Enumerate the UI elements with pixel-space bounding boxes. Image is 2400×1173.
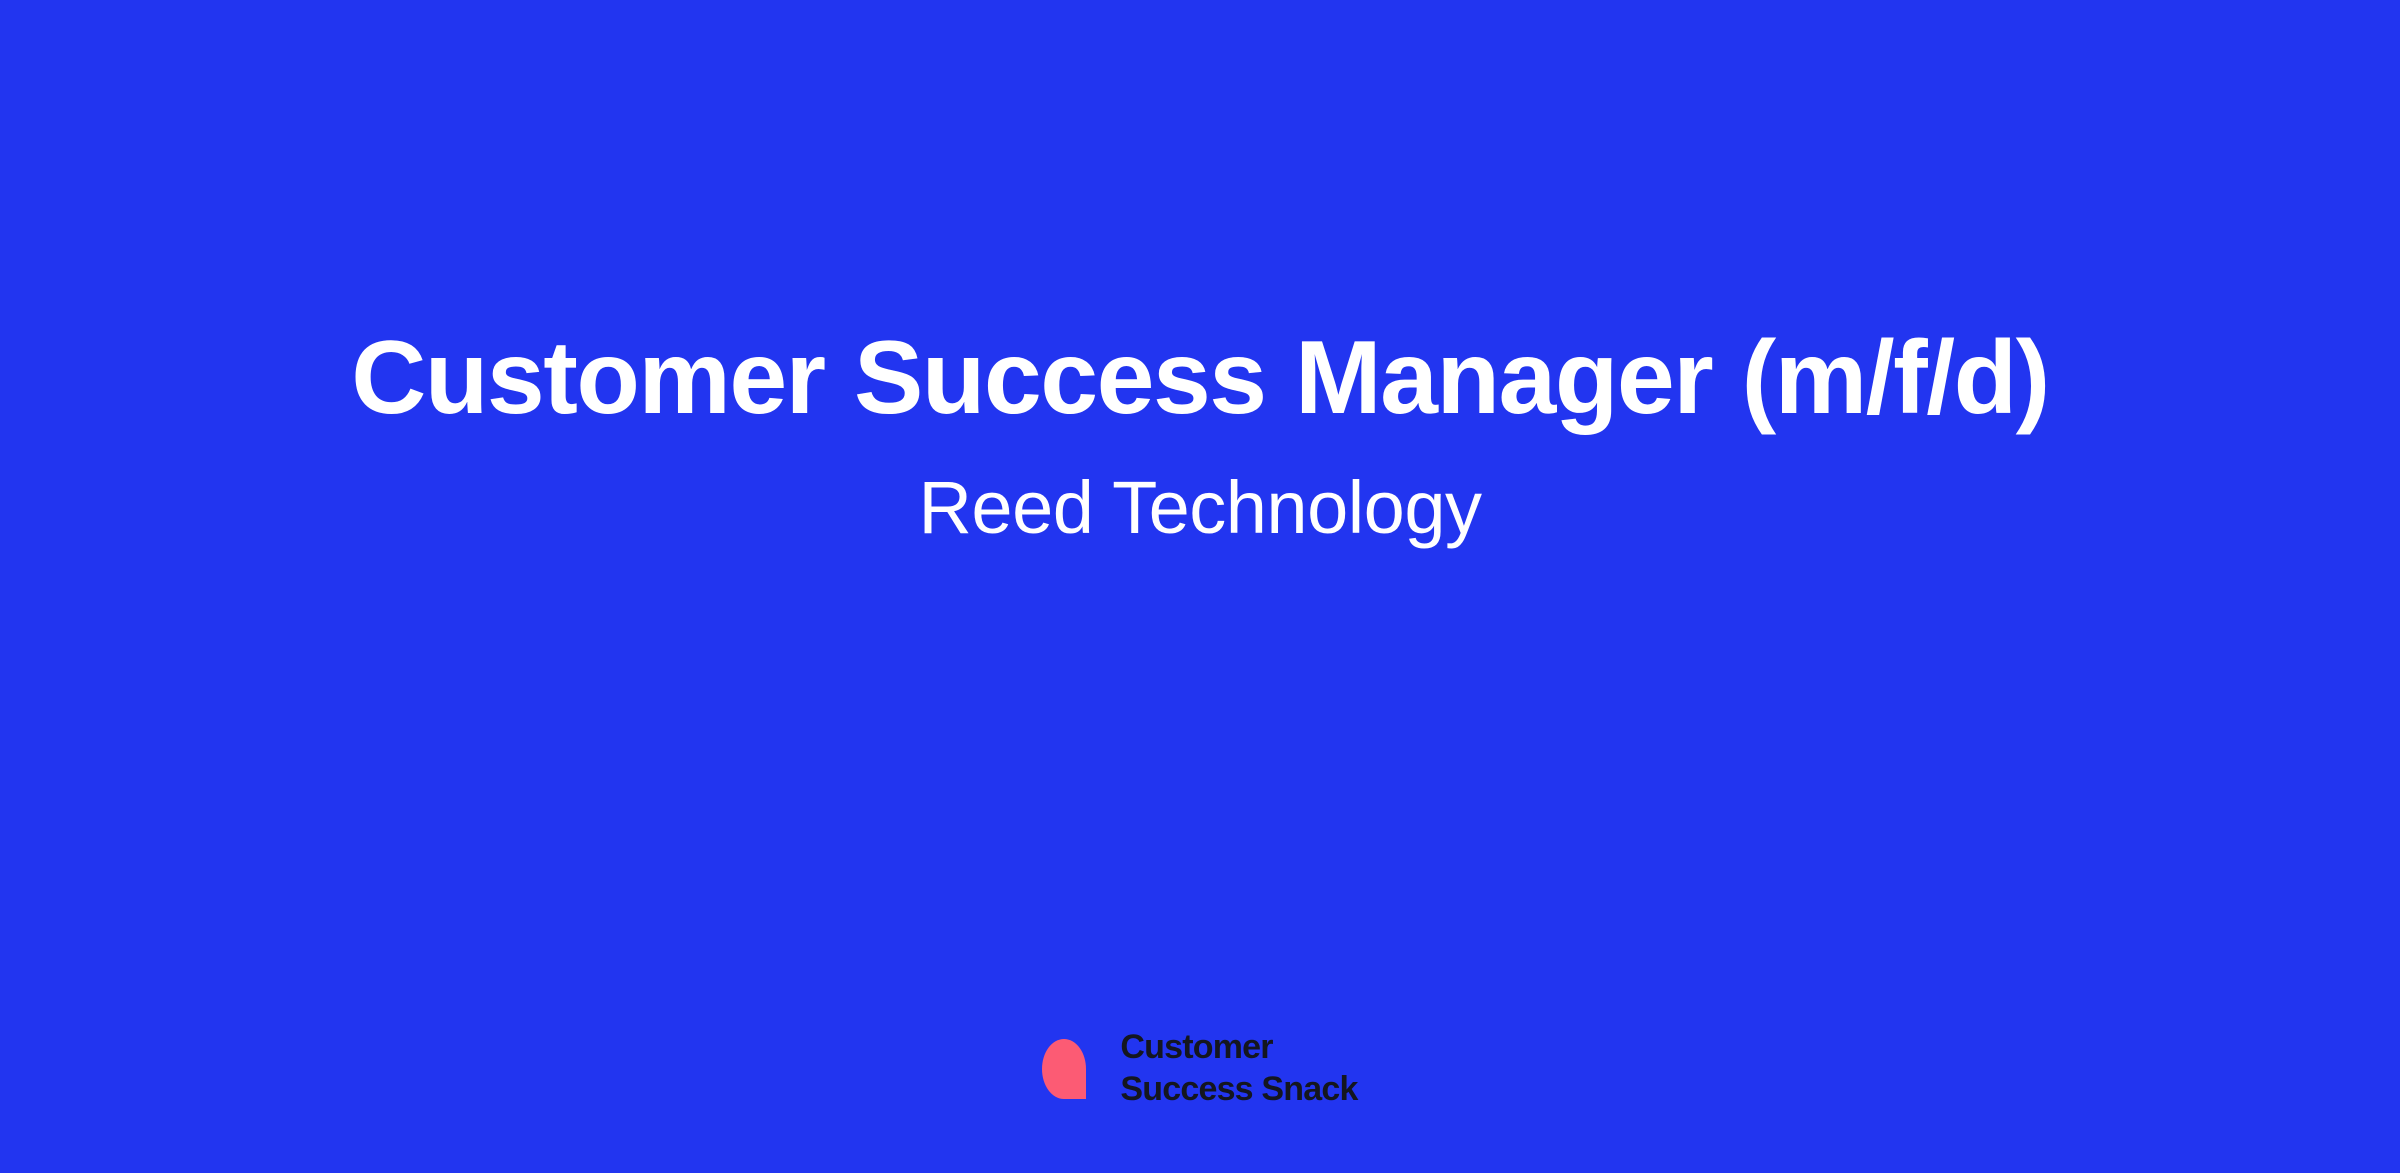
brand-wordmark-line-2: Success Snack (1120, 1069, 1357, 1111)
brand-wordmark: Customer Success Snack (1120, 1027, 1357, 1111)
job-posting-slide: Customer Success Manager (m/f/d) Reed Te… (0, 0, 2400, 1173)
hero-text-block: Customer Success Manager (m/f/d) Reed Te… (0, 318, 2400, 554)
company-name: Reed Technology (738, 462, 1661, 555)
page-title: Customer Success Manager (m/f/d) (171, 318, 2229, 440)
teardrop-icon (1042, 1039, 1086, 1099)
brand-wordmark-line-1: Customer (1120, 1027, 1272, 1069)
brand-lockup: Customer Success Snack (0, 1027, 2400, 1111)
